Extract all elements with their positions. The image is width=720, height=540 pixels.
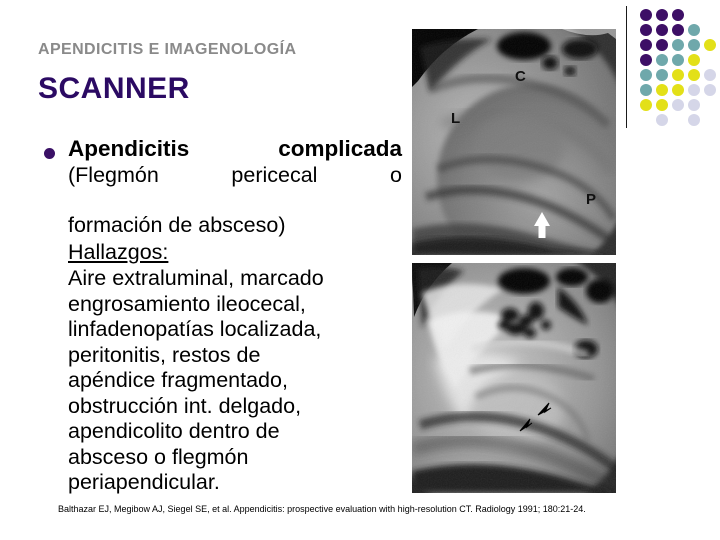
finding-line: periapendicular. [68, 470, 402, 496]
logo-dot-teal [672, 54, 684, 66]
logo-dot-empty [640, 114, 652, 126]
svg-text:L: L [451, 110, 460, 127]
body-lead: Apendicitis complicada [68, 136, 402, 162]
logo-dot-empty [688, 9, 700, 21]
body-paren-line-1: (Flegmón pericecal o [68, 163, 402, 213]
logo-dot-teal [688, 24, 700, 36]
finding-line: peritonitis, restos de [68, 343, 402, 369]
logo-dot-lavender [704, 84, 716, 96]
logo-dot-yellow [640, 99, 652, 111]
ct-scan-axial-abdomen-bottom [412, 263, 616, 493]
svg-text:P: P [586, 191, 596, 208]
logo-dot-yellow [672, 69, 684, 81]
finding-line: apendicolito dentro de [68, 419, 402, 445]
logo-dot-purple [640, 9, 652, 21]
finding-line: absceso o flegmón [68, 445, 402, 471]
logo-dot-teal [672, 39, 684, 51]
logo-dot-purple [640, 54, 652, 66]
body-paren-line-2: formación de absceso) [68, 213, 402, 238]
logo-dot-teal [656, 69, 668, 81]
logo-dot-purple [656, 39, 668, 51]
logo-dot-lavender [688, 114, 700, 126]
logo-dot-lavender [688, 84, 700, 96]
bullet-icon [44, 148, 55, 159]
logo-dot-empty [704, 24, 716, 36]
logo-dot-lavender [688, 99, 700, 111]
logo-divider-line [626, 6, 627, 128]
svg-text:C: C [515, 68, 526, 85]
body-text: Apendicitis complicada (Flegmón periceca… [68, 136, 402, 496]
finding-line: Aire extraluminal, marcado [68, 266, 402, 292]
logo-dot-yellow [688, 54, 700, 66]
finding-line: linfadenopatías localizada, [68, 317, 402, 343]
logo-dot-lavender [704, 69, 716, 81]
logo-dot-purple [656, 9, 668, 21]
logo-dot-purple [640, 39, 652, 51]
logo-dot-yellow [672, 84, 684, 96]
body-content: Apendicitis complicada (Flegmón periceca… [40, 136, 402, 496]
logo-dot-teal [640, 69, 652, 81]
logo-dot-yellow [656, 99, 668, 111]
logo-dot-teal [656, 54, 668, 66]
logo-dot-lavender [656, 114, 668, 126]
logo-dot-yellow [656, 84, 668, 96]
logo-dot-purple [656, 24, 668, 36]
findings-label: Hallazgos: [68, 239, 402, 266]
slide-kicker: APENDICITIS E IMAGENOLOGÍA [38, 41, 296, 59]
page-title: SCANNER [38, 72, 190, 106]
logo-dot-empty [704, 54, 716, 66]
logo-dot-empty [704, 99, 716, 111]
dot-matrix-logo [640, 9, 720, 129]
finding-line: apéndice fragmentado, [68, 368, 402, 394]
logo-dot-lavender [672, 99, 684, 111]
citation-text: Balthazar EJ, Megibow AJ, Siegel SE, et … [58, 503, 678, 515]
slide-canvas: APENDICITIS E IMAGENOLOGÍA SCANNER Apend… [0, 0, 720, 540]
finding-line: obstrucción int. delgado, [68, 394, 402, 420]
logo-dot-teal [640, 84, 652, 96]
ct-scan-axial-abdomen-top: C L P [412, 29, 616, 255]
logo-dot-purple [672, 9, 684, 21]
logo-dot-purple [672, 24, 684, 36]
finding-line: engrosamiento ileocecal, [68, 292, 402, 318]
logo-dot-yellow [704, 39, 716, 51]
logo-dot-yellow [688, 69, 700, 81]
logo-dot-purple [640, 24, 652, 36]
logo-dot-empty [704, 114, 716, 126]
logo-dot-empty [672, 114, 684, 126]
logo-dot-empty [704, 9, 716, 21]
logo-dot-teal [688, 39, 700, 51]
